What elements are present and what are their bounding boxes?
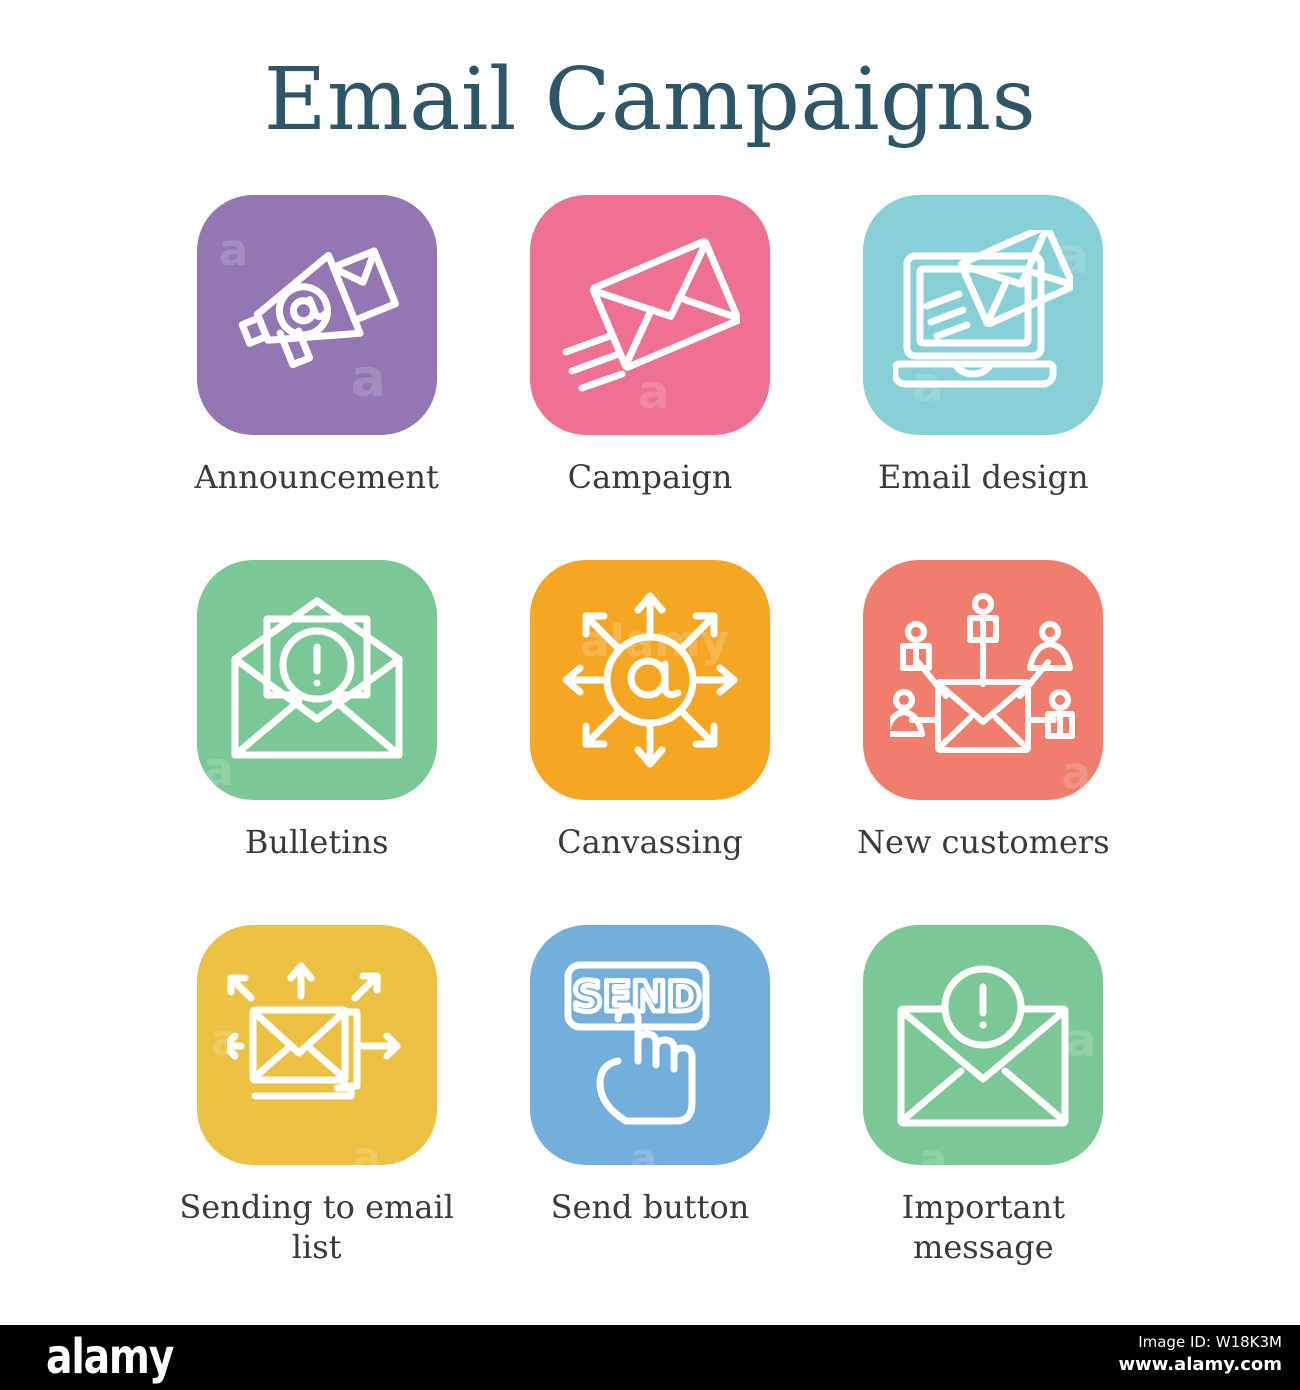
- icon-cell-campaign[interactable]: a Campaign: [483, 195, 816, 560]
- alamy-watermark-letter: a: [630, 1139, 657, 1179]
- icon-label: Canvassing: [557, 822, 743, 862]
- icon-tile-sending-to-email-list[interactable]: a a: [197, 925, 437, 1165]
- alamy-logo: alamy: [46, 1331, 173, 1383]
- icon-label: Important message: [833, 1187, 1133, 1267]
- icon-tile-canvassing[interactable]: alamy: [530, 560, 770, 800]
- icon-tile-bulletins[interactable]: a: [197, 560, 437, 800]
- icon-tile-send-button[interactable]: a SEND: [530, 925, 770, 1165]
- alamy-meta: Image ID: W18K3M www.alamy.com: [1118, 1331, 1282, 1377]
- icon-cell-bulletins[interactable]: a Bulletins: [150, 560, 483, 925]
- icon-tile-announcement[interactable]: a a: [197, 195, 437, 435]
- alamy-footer-bar: alamy Image ID: W18K3M www.alamy.com: [0, 1325, 1300, 1390]
- alamy-watermark-letter: a: [353, 1137, 381, 1179]
- icon-cell-email-design[interactable]: a a: [817, 195, 1150, 560]
- icon-cell-important-message[interactable]: a a Important message: [817, 925, 1150, 1290]
- icon-label: Sending to email list: [167, 1187, 467, 1267]
- stacked-envelopes-arrows-icon: [227, 960, 407, 1130]
- icon-tile-important-message[interactable]: a a: [863, 925, 1103, 1165]
- alamy-url: www.alamy.com: [1118, 1353, 1282, 1377]
- icon-tile-email-design[interactable]: a a: [863, 195, 1103, 435]
- icon-label: Email design: [878, 457, 1089, 497]
- icon-grid: a a: [150, 195, 1150, 1290]
- icon-label: Announcement: [194, 457, 438, 497]
- envelope-alert-icon: [895, 961, 1071, 1129]
- flying-envelope-icon: [560, 230, 740, 400]
- page-title: Email Campaigns: [0, 48, 1300, 152]
- envelope-people-network-icon: [890, 592, 1076, 768]
- icon-cell-new-customers[interactable]: a: [817, 560, 1150, 925]
- icon-label: Campaign: [568, 457, 733, 497]
- icon-cell-canvassing[interactable]: alamy C: [483, 560, 816, 925]
- icon-tile-campaign[interactable]: a: [530, 195, 770, 435]
- icon-tile-new-customers[interactable]: a: [863, 560, 1103, 800]
- stock-photo-canvas: Email Campaigns a a: [0, 0, 1300, 1325]
- icon-cell-announcement[interactable]: a a: [150, 195, 483, 560]
- icon-label: Send button: [551, 1187, 750, 1227]
- at-sign-radiating-arrows-icon: [560, 590, 740, 770]
- icon-cell-send-button[interactable]: a SEND Send button: [483, 925, 816, 1290]
- megaphone-at-envelope-icon: [232, 230, 402, 400]
- laptop-envelope-icon: [893, 230, 1073, 400]
- alamy-image-id: Image ID: W18K3M: [1118, 1331, 1282, 1353]
- icon-label: New customers: [857, 822, 1110, 862]
- icon-label: Bulletins: [245, 822, 389, 862]
- alamy-watermark-letter: a: [919, 1139, 947, 1181]
- icon-cell-sending-to-email-list[interactable]: a a: [150, 925, 483, 1290]
- send-button-hand-icon: SEND: [560, 957, 740, 1133]
- open-envelope-alert-icon: [229, 597, 405, 763]
